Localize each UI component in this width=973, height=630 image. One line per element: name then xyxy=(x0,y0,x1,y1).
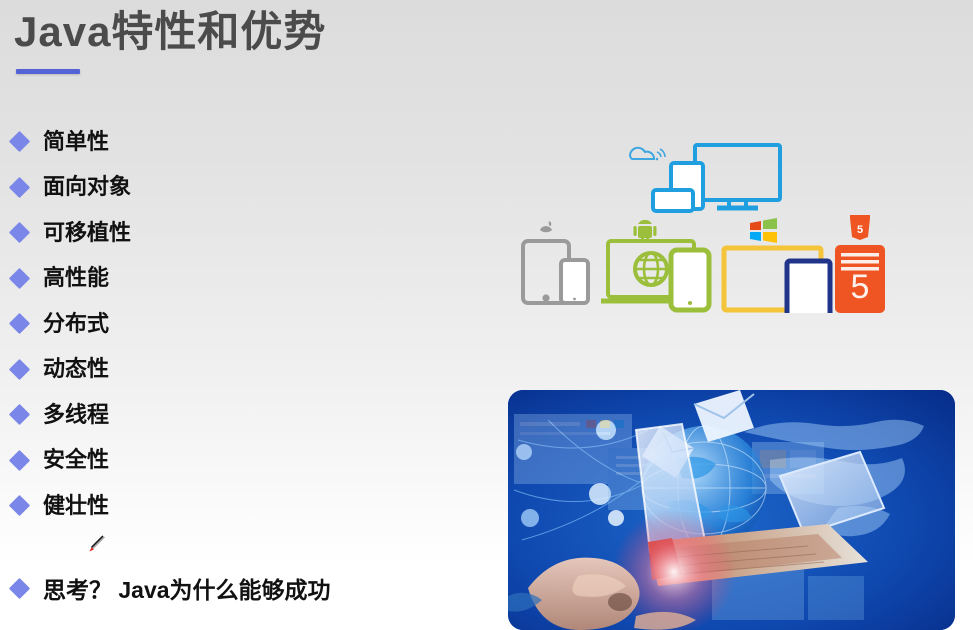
list-item[interactable]: 分布式 xyxy=(0,301,470,347)
page-title: Java特性和优势 xyxy=(14,8,326,56)
svg-text:5: 5 xyxy=(857,224,863,236)
list-item-label: 健壮性 xyxy=(43,495,109,517)
list-item[interactable]: 简单性 xyxy=(0,119,470,165)
title-underline-rule xyxy=(16,69,80,74)
list-item[interactable]: 动态性 xyxy=(0,347,470,393)
html5-logo-icon: 5 xyxy=(850,215,870,240)
pen-cursor xyxy=(84,534,106,556)
cross-platform-devices-diagram: 5 5 xyxy=(505,133,905,313)
diamond-bullet-icon xyxy=(9,313,30,334)
list-item-label: 高性能 xyxy=(43,267,109,289)
diamond-bullet-icon xyxy=(9,359,30,380)
list-item[interactable]: 多线程 xyxy=(0,392,470,438)
list-item-label: 动态性 xyxy=(43,358,109,380)
list-item[interactable]: 面向对象 xyxy=(0,165,470,211)
slide-canvas: Java特性和优势 简单性 面向对象 可移植性 高性能 分布式 动态性 xyxy=(0,0,973,613)
list-item-label: 面向对象 xyxy=(43,176,131,198)
list-item[interactable]: 安全性 xyxy=(0,438,470,484)
apple-phone-icon xyxy=(561,260,588,303)
diamond-bullet-icon xyxy=(9,268,30,289)
question-label: 思考？ Java为什么能够成功 xyxy=(43,571,331,605)
list-item-label: 可移植性 xyxy=(43,222,131,244)
diamond-bullet-icon xyxy=(9,450,30,471)
phone-landscape-icon xyxy=(653,190,693,211)
list-item-label: 简单性 xyxy=(43,131,109,153)
diamond-bullet-icon xyxy=(9,577,30,598)
windows-logo-icon xyxy=(750,218,777,243)
diamond-bullet-icon xyxy=(9,495,30,516)
cloud-wifi-icon xyxy=(630,148,665,161)
svg-text:5: 5 xyxy=(851,268,870,306)
diamond-bullet-icon xyxy=(9,222,30,243)
list-item[interactable]: 健壮性 xyxy=(0,483,470,529)
list-item[interactable]: 可移植性 xyxy=(0,210,470,256)
feature-list: 简单性 面向对象 可移植性 高性能 分布式 动态性 多线程 安全性 xyxy=(0,119,470,529)
list-item[interactable]: 高性能 xyxy=(0,256,470,302)
android-logo-icon xyxy=(634,220,657,242)
list-item-label: 分布式 xyxy=(43,313,109,335)
list-item-label: 安全性 xyxy=(43,449,109,471)
android-phone-icon xyxy=(671,250,709,310)
question-item[interactable]: 思考？ Java为什么能够成功 xyxy=(12,571,331,605)
monitor-icon xyxy=(695,145,780,208)
html5-book-icon: 5 xyxy=(835,245,885,313)
diamond-bullet-icon xyxy=(9,404,30,425)
apple-logo-icon xyxy=(540,221,552,232)
list-item-label: 多线程 xyxy=(43,404,109,426)
windows-tablet-icon xyxy=(787,261,830,313)
technology-network-laptop-photo xyxy=(508,390,955,630)
diamond-bullet-icon xyxy=(9,131,30,152)
diamond-bullet-icon xyxy=(9,177,30,198)
